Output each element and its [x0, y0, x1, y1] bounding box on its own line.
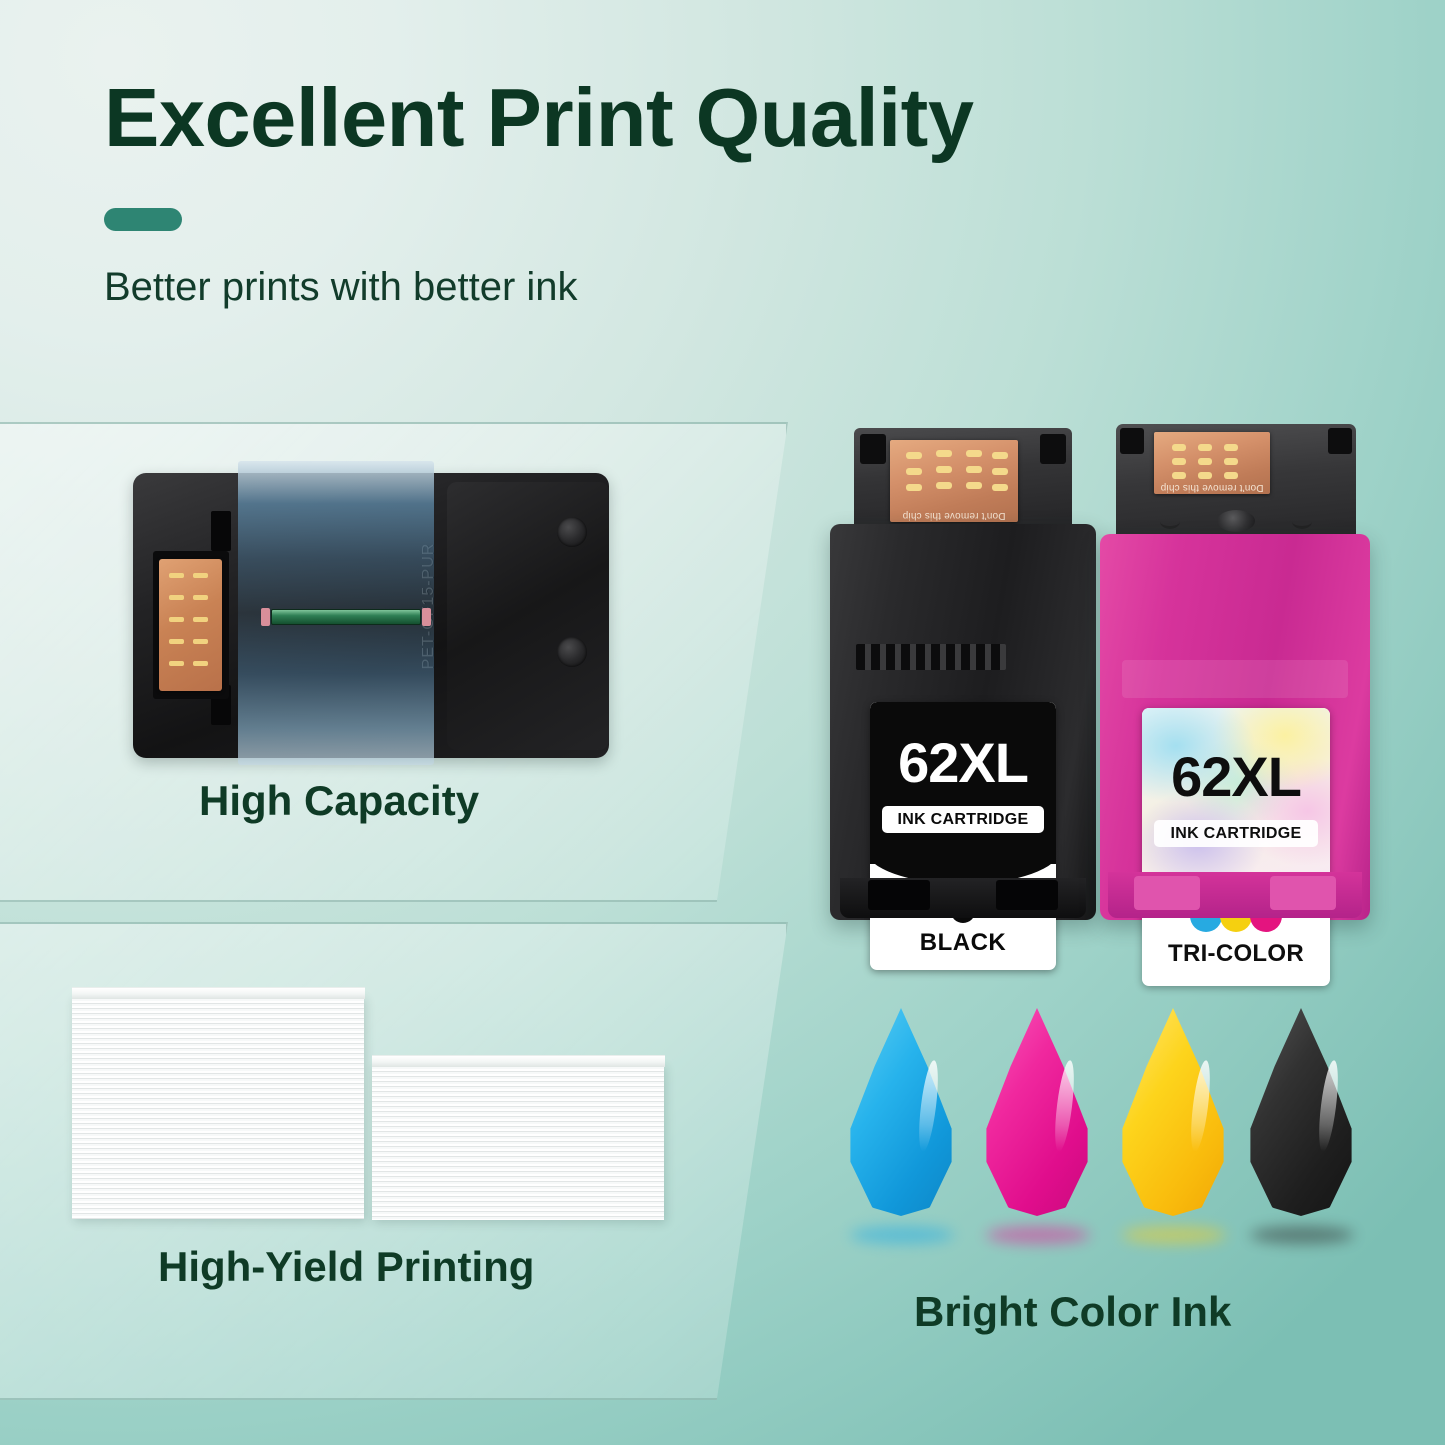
ink-droplet-yellow-icon — [1118, 1008, 1228, 1216]
feature-caption-bright-color: Bright Color Ink — [914, 1288, 1231, 1336]
printhead-screw-icon — [557, 517, 587, 547]
ink-droplet-cyan-icon — [846, 1008, 956, 1216]
cartridge-tri-color-name: TRI-COLOR — [1142, 940, 1330, 968]
printhead-nozzle-plate — [271, 609, 421, 625]
page-subtitle: Better prints with better ink — [104, 265, 578, 310]
cartridge-tri-type-label: INK CARTRIDGE — [1154, 820, 1318, 847]
title-divider-bar — [104, 208, 182, 231]
feature-caption-high-yield: High-Yield Printing — [158, 1243, 534, 1291]
cartridge-tri-color: Don't remove this chip 62XL INK CARTRIDG… — [1100, 424, 1370, 920]
cartridge-black-label: 62XL INK CARTRIDGE BLACK — [870, 702, 1056, 970]
ink-droplet-black-icon — [1246, 1008, 1356, 1216]
cartridge-tri-chip: Don't remove this chip — [1154, 432, 1270, 494]
printhead-right-cap — [447, 482, 609, 750]
cartridge-tri-chip-warning: Don't remove this chip — [1154, 482, 1270, 493]
cartridge-tri-foot — [1108, 872, 1362, 918]
cartridge-black-chip: Don't remove this chip — [890, 440, 1018, 522]
cartridge-black-chip-warning: Don't remove this chip — [890, 510, 1018, 521]
product-infographic: Excellent Print Quality Better prints wi… — [0, 0, 1445, 1445]
printhead-image: PET-GF15-PUR — [133, 473, 609, 758]
cartridge-black: Don't remove this chip 62XL INK CARTRIDG… — [830, 428, 1096, 920]
ink-droplets-group — [846, 1008, 1356, 1244]
cartridge-tri-body: 62XL INK CARTRIDGE TRI-COLOR — [1100, 534, 1370, 920]
feature-caption-high-capacity: High Capacity — [199, 777, 479, 825]
cartridge-black-vents — [856, 644, 1006, 670]
cartridge-black-model: 62XL — [870, 730, 1056, 795]
cartridge-tri-shoulder — [1122, 660, 1348, 698]
cartridge-tri-label: 62XL INK CARTRIDGE TRI-COLOR — [1142, 708, 1330, 986]
page-title: Excellent Print Quality — [104, 74, 973, 161]
printhead-screw-icon — [557, 637, 587, 667]
printhead-notch — [211, 511, 231, 551]
cartridge-black-body: 62XL INK CARTRIDGE BLACK — [830, 524, 1096, 920]
cartridge-black-foot — [840, 878, 1086, 918]
cartridge-black-type-label: INK CARTRIDGE — [882, 806, 1044, 833]
cartridge-tri-model: 62XL — [1142, 744, 1330, 809]
printhead-contact-chip — [159, 559, 222, 691]
cartridge-black-color-name: BLACK — [870, 929, 1056, 957]
ink-droplet-magenta-icon — [982, 1008, 1092, 1216]
paper-stack-small — [372, 1064, 664, 1220]
paper-stack-large — [72, 996, 364, 1219]
